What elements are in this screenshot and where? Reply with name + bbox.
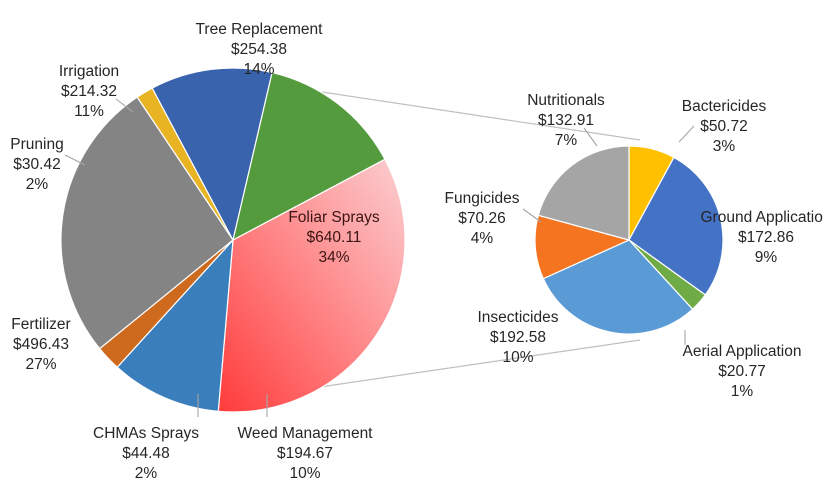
data-label-pruning: Pruning$30.422% — [10, 136, 63, 193]
data-label-fertilizer-title: Fertilizer — [11, 316, 70, 333]
data-label-irrigation: Irrigation$214.3211% — [59, 63, 119, 120]
data-label-ground-application-value: $172.86 — [738, 229, 794, 246]
data-label-aerial-application-value: $20.77 — [718, 363, 765, 380]
data-label-weed-management-title: Weed Management — [238, 425, 374, 442]
data-label-insecticides-value: $192.58 — [490, 329, 546, 346]
data-label-aerial-application-title: Aerial Application — [683, 343, 802, 360]
data-label-aerial-application: Aerial Application$20.771% — [683, 343, 802, 400]
data-label-ground-application-title: Ground Application — [701, 209, 823, 226]
data-label-aerial-application-percent: 1% — [731, 383, 754, 400]
data-label-pruning-title: Pruning — [10, 136, 63, 153]
data-label-weed-management-percent: 10% — [289, 465, 320, 480]
data-label-nutritionals-percent: 7% — [555, 132, 578, 149]
data-label-chmas-sprays-title: CHMAs Sprays — [93, 425, 199, 442]
leader-bactericides — [679, 126, 694, 142]
data-label-fungicides-title: Fungicides — [445, 190, 520, 207]
data-label-fungicides-percent: 4% — [471, 230, 494, 247]
data-label-foliar-sprays-title: Foliar Sprays — [288, 209, 380, 226]
leader-nutritionals — [584, 128, 597, 146]
data-label-irrigation-percent: 11% — [74, 103, 104, 120]
data-label-fungicides-value: $70.26 — [458, 210, 505, 227]
chart-canvas: Tree Replacement$254.3814%Irrigation$214… — [0, 0, 823, 480]
data-label-insecticides: Insecticides$192.5810% — [478, 309, 559, 366]
data-label-bactericides-title: Bactericides — [682, 98, 767, 115]
data-label-tree-replacement-percent: 14% — [243, 61, 274, 78]
pie-of-pie-chart: Tree Replacement$254.3814%Irrigation$214… — [0, 0, 823, 480]
data-label-fertilizer: Fertilizer$496.4327% — [11, 316, 70, 373]
data-label-nutritionals-value: $132.91 — [538, 112, 594, 129]
data-label-chmas-sprays: CHMAs Sprays$44.482% — [93, 425, 199, 480]
data-label-weed-management-value: $194.67 — [277, 445, 333, 462]
data-label-fertilizer-value: $496.43 — [13, 336, 69, 353]
data-label-irrigation-title: Irrigation — [59, 63, 119, 80]
data-label-tree-replacement-value: $254.38 — [231, 41, 287, 58]
data-label-foliar-sprays-value: $640.11 — [307, 229, 362, 246]
data-label-insecticides-title: Insecticides — [478, 309, 559, 326]
data-label-fungicides: Fungicides$70.264% — [445, 190, 520, 247]
data-label-weed-management: Weed Management$194.6710% — [238, 425, 374, 480]
data-label-bactericides-percent: 3% — [713, 138, 736, 155]
data-label-chmas-sprays-value: $44.48 — [122, 445, 169, 462]
data-label-ground-application-percent: 9% — [755, 249, 778, 266]
data-label-chmas-sprays-percent: 2% — [135, 465, 158, 480]
data-label-pruning-percent: 2% — [26, 176, 49, 193]
data-label-tree-replacement-title: Tree Replacement — [196, 21, 324, 38]
data-label-nutritionals-title: Nutritionals — [527, 92, 605, 109]
data-label-bactericides-value: $50.72 — [700, 118, 747, 135]
data-label-insecticides-percent: 10% — [502, 349, 533, 366]
data-label-foliar-sprays-percent: 34% — [318, 249, 349, 266]
data-label-fertilizer-percent: 27% — [25, 356, 56, 373]
secondary-pie[interactable] — [535, 146, 723, 334]
data-label-bactericides: Bactericides$50.723% — [682, 98, 767, 155]
data-label-irrigation-value: $214.32 — [61, 83, 117, 100]
data-label-pruning-value: $30.42 — [13, 156, 60, 173]
